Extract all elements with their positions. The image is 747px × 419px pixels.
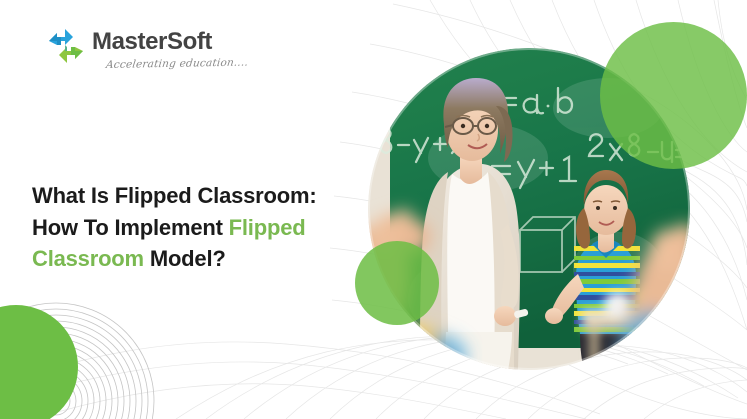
headline-line2-plain: How To Implement (32, 215, 229, 240)
headline-accent-flipped: Flipped (229, 215, 306, 240)
brand-name: MasterSoft (92, 30, 212, 54)
headline-accent-classroom: Classroom (32, 246, 144, 271)
headline-line1: What Is Flipped Classroom: (32, 183, 317, 208)
mastersoft-pinwheel-logo-icon (48, 28, 84, 64)
headline-line3-plain: Model? (144, 246, 226, 271)
brand-tagline: Accelerating education.... (105, 57, 249, 71)
banner-root: MasterSoft Accelerating education.... Wh… (0, 0, 747, 419)
green-corner-circle (0, 305, 78, 419)
page-title: What Is Flipped Classroom: How To Implem… (32, 180, 372, 275)
brand-logo[interactable]: MasterSoft Accelerating education.... (48, 28, 248, 71)
classroom-photo-circle (368, 48, 690, 370)
